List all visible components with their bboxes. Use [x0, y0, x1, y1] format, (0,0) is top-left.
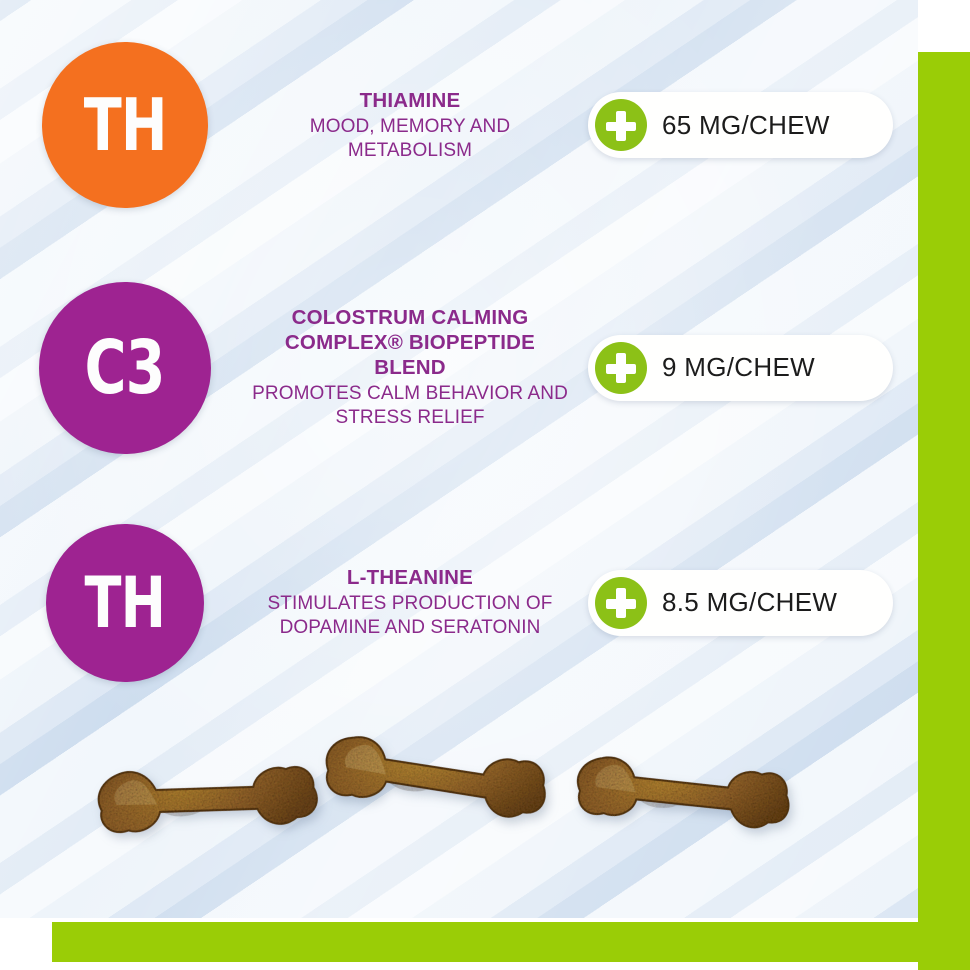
ingredient-info: L-THEANINE STIMULATES PRODUCTION OF DOPA…: [250, 565, 570, 639]
striped-background-panel: TH THIAMINE MOOD, MEMORY AND METABOLISM …: [0, 0, 918, 918]
dose-container: 8.5 MG/CHEW: [570, 570, 918, 636]
ingredient-subtitle: MOOD, MEMORY AND METABOLISM: [250, 115, 570, 162]
ingredient-title: L-THEANINE: [250, 565, 570, 590]
plus-icon: [595, 577, 647, 629]
dog-treat-bone: [83, 696, 332, 899]
badge-label: C3: [85, 331, 165, 405]
badge-container: TH: [0, 524, 250, 682]
dose-amount: 8.5 MG/CHEW: [662, 587, 837, 618]
ingredient-row: C3 COLOSTRUM CALMING COMPLEX® BIOPEPTIDE…: [0, 270, 918, 465]
dose-amount: 9 MG/CHEW: [662, 352, 815, 383]
plus-icon: [595, 342, 647, 394]
dose-amount: 65 MG/CHEW: [662, 110, 830, 141]
dose-pill: 65 MG/CHEW: [588, 92, 893, 158]
dose-pill: 9 MG/CHEW: [588, 335, 893, 401]
dog-treat-bone: [315, 690, 555, 863]
ingredient-subtitle: PROMOTES CALM BEHAVIOR AND STRESS RELIEF: [250, 382, 570, 429]
green-frame-bottom: [52, 922, 970, 962]
dose-pill: 8.5 MG/CHEW: [588, 570, 893, 636]
plus-icon: [595, 99, 647, 151]
treat-photo-group: [0, 700, 918, 918]
dog-treat-bone: [566, 704, 799, 880]
badge-label: TH: [84, 89, 167, 161]
dose-container: 9 MG/CHEW: [570, 335, 918, 401]
badge-label: TH: [85, 568, 166, 638]
product-infographic: TH THIAMINE MOOD, MEMORY AND METABOLISM …: [0, 0, 970, 970]
ingredient-subtitle: STIMULATES PRODUCTION OF DOPAMINE AND SE…: [250, 592, 570, 639]
badge-container: TH: [0, 42, 250, 208]
badge-container: C3: [0, 282, 250, 454]
ingredient-title: COLOSTRUM CALMING COMPLEX® BIOPEPTIDE BL…: [250, 305, 570, 380]
plus-icon-vertical-bar: [616, 353, 626, 383]
ingredient-title: THIAMINE: [250, 88, 570, 113]
plus-icon-vertical-bar: [616, 111, 626, 141]
plus-icon-vertical-bar: [616, 588, 626, 618]
ingredient-row: TH L-THEANINE STIMULATES PRODUCTION OF D…: [0, 515, 918, 690]
ingredient-row: TH THIAMINE MOOD, MEMORY AND METABOLISM …: [0, 30, 918, 220]
ingredient-badge-circle: C3: [39, 282, 211, 454]
ingredient-badge-circle: TH: [46, 524, 204, 682]
ingredient-info: COLOSTRUM CALMING COMPLEX® BIOPEPTIDE BL…: [250, 305, 570, 429]
ingredient-badge-circle: TH: [42, 42, 208, 208]
green-frame-right: [918, 52, 970, 970]
ingredient-info: THIAMINE MOOD, MEMORY AND METABOLISM: [250, 88, 570, 162]
dose-container: 65 MG/CHEW: [570, 92, 918, 158]
